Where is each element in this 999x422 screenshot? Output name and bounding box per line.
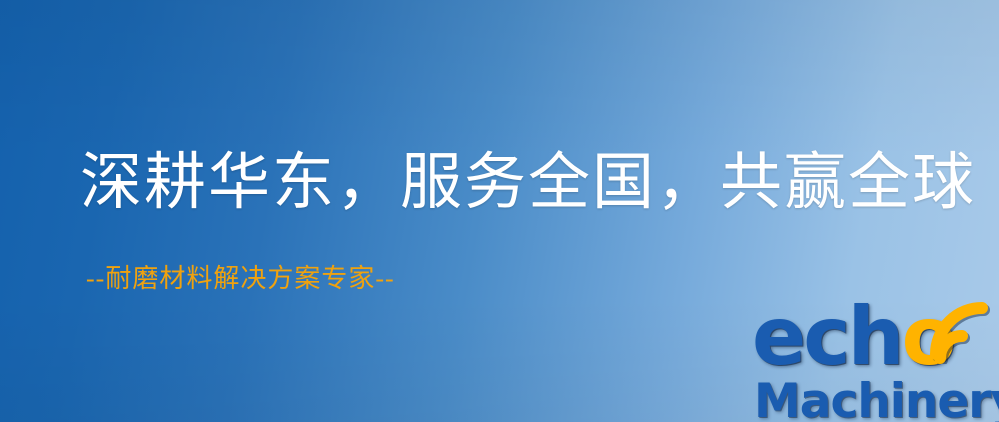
banner-headline: 深耕华东，服务全国，共赢全球 bbox=[80, 152, 976, 214]
logo-echo-blue-part: ech bbox=[752, 290, 902, 383]
company-logo[interactable]: echo Machinery® bbox=[752, 296, 999, 422]
banner-subtitle: --耐磨材料解决方案专家-- bbox=[86, 266, 395, 292]
logo-wordmark: Machinery® bbox=[754, 372, 999, 422]
hero-banner: 深耕华东，服务全国，共赢全球 --耐磨材料解决方案专家-- echo Machi… bbox=[0, 0, 999, 422]
logo-wordmark-text: Machinery bbox=[754, 374, 999, 422]
signal-waves-icon bbox=[920, 292, 999, 364]
